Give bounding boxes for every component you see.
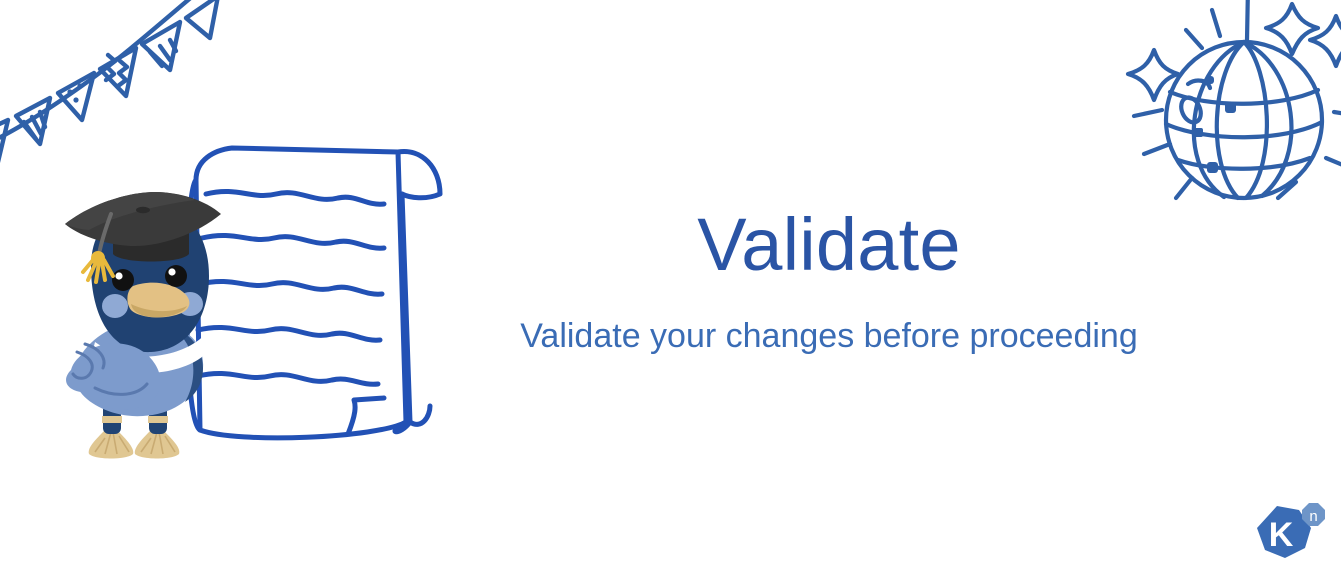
page-subtitle: Validate your changes before proceeding [464,285,1194,356]
disco-ball-icon [1120,0,1341,227]
graduation-cap-icon [65,192,221,282]
bird-lower-body [67,322,203,416]
bird-cheek-left [102,294,128,318]
bird-feet-icon [89,428,180,459]
graduate-bird-mascot-icon [55,192,230,467]
bird-head-body [91,204,209,352]
bird-legs-icon [102,398,168,434]
bird-chest-band [93,332,208,373]
bird-eyes-icon [112,265,187,291]
party-bunting-icon [0,0,224,184]
bird-beak-icon [127,283,189,318]
bird-cheek-right [177,292,203,316]
knative-logo-icon: K n [1247,500,1329,572]
logo-badge-letter-n: n [1309,508,1317,525]
diploma-scroll-icon [178,138,463,448]
hero-banner: Validate Validate your changes before pr… [0,0,1341,585]
page-title: Validate [464,205,1194,285]
logo-letter-k: K [1269,516,1294,554]
hero-text-block: Validate Validate your changes before pr… [464,205,1194,356]
